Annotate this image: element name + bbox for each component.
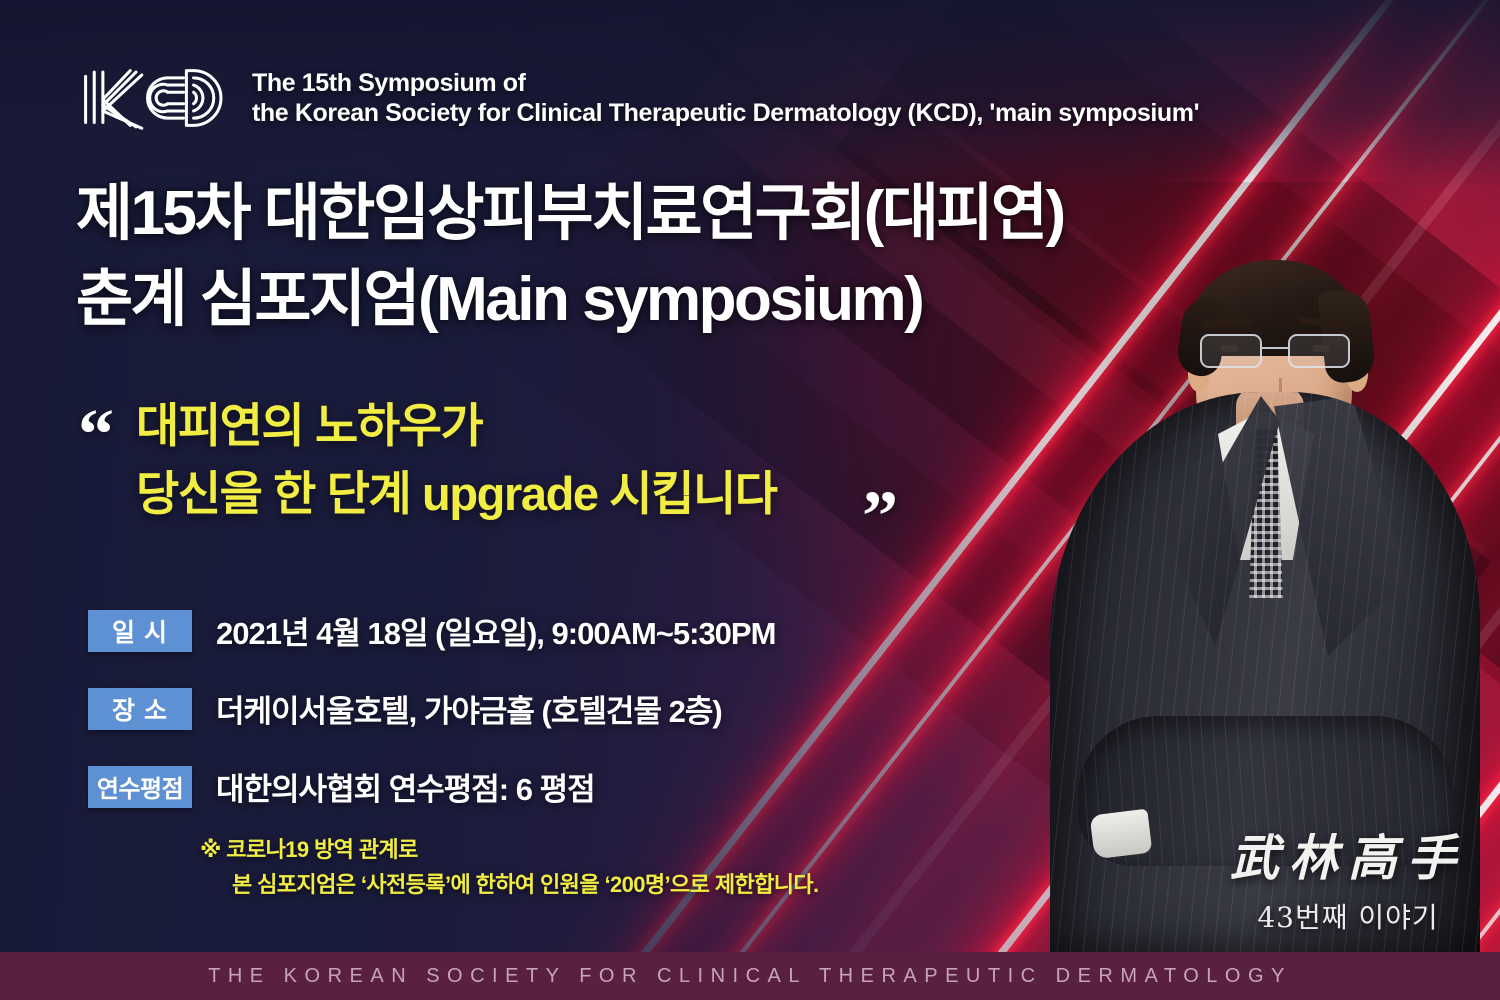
poster-root: The 15th Symposium of the Korean Society… — [0, 0, 1500, 1000]
info-row-credits: 연수평점 대한의사협회 연수평점: 6 평점 — [88, 764, 775, 809]
tagline-quote: “ 대피연의 노하우가 당신을 한 단계 upgrade 시킵니다 ” — [78, 392, 777, 528]
header-line-2: the Korean Society for Clinical Therapeu… — [252, 98, 1199, 129]
footer-text: THE KOREAN SOCIETY FOR CLINICAL THERAPEU… — [208, 965, 1292, 988]
note-line-2: 본 심포지엄은 ‘사전등록’에 한하여 인원을 ‘200명’으로 제한합니다. — [200, 867, 819, 902]
info-row-venue: 장 소 더케이서울호텔, 가야금홀 (호텔건물 2층) — [88, 686, 775, 731]
info-label-venue: 장 소 — [88, 688, 192, 730]
info-label-datetime: 일 시 — [88, 610, 192, 652]
title-line-1: 제15차 대한임상피부치료연구회(대피연) — [76, 176, 1064, 252]
page-title: 제15차 대한임상피부치료연구회(대피연) 춘계 심포지엄(Main sympo… — [76, 176, 1064, 337]
covid-note: ※ 코로나19 방역 관계로 본 심포지엄은 ‘사전등록’에 한하여 인원을 ‘… — [200, 832, 819, 902]
quote-open-icon: “ — [78, 398, 114, 470]
quote-line-2: 당신을 한 단계 upgrade 시킵니다 — [136, 460, 777, 528]
info-row-datetime: 일 시 2021년 4월 18일 (일요일), 9:00AM~5:30PM — [88, 608, 775, 653]
event-info: 일 시 2021년 4월 18일 (일요일), 9:00AM~5:30PM 장 … — [88, 608, 775, 842]
footer-bar: THE KOREAN SOCIETY FOR CLINICAL THERAPEU… — [0, 952, 1500, 1000]
note-line-1: ※ 코로나19 방역 관계로 — [200, 832, 819, 867]
title-line-2: 춘계 심포지엄(Main symposium) — [76, 262, 1064, 338]
info-value-venue: 더케이서울호텔, 가야금홀 (호텔건물 2층) — [216, 686, 722, 731]
info-value-datetime: 2021년 4월 18일 (일요일), 9:00AM~5:30PM — [216, 608, 775, 653]
info-label-credits: 연수평점 — [88, 766, 192, 808]
info-value-credits: 대한의사협회 연수평점: 6 평점 — [216, 764, 595, 809]
kcd-logo-icon — [78, 62, 230, 134]
header: The 15th Symposium of the Korean Society… — [78, 62, 1199, 134]
header-line-1: The 15th Symposium of — [252, 68, 1199, 99]
quote-line-1: 대피연의 노하우가 — [136, 392, 777, 460]
quote-close-icon: ” — [862, 480, 898, 552]
